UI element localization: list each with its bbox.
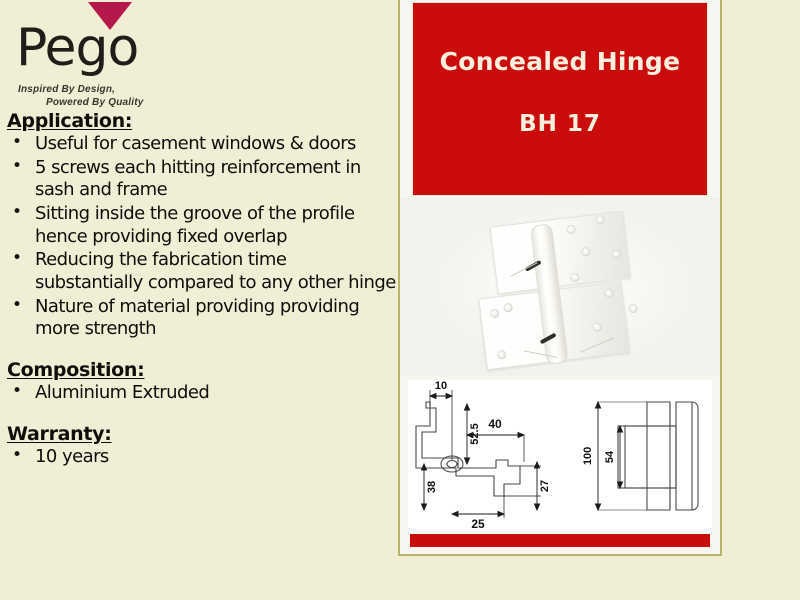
right-product-panel: Concealed Hinge BH 17 [398, 0, 722, 556]
feature-sections: Application: Useful for casement windows… [4, 110, 398, 469]
tagline-line-2: Powered By Quality [18, 97, 208, 110]
section-warranty: Warranty: 10 years [4, 423, 398, 469]
technical-drawing-svg: 10 52.5 40 38 27 25 100 54 [408, 380, 712, 532]
application-bullet-list: Useful for casement windows & doors 5 sc… [4, 133, 398, 341]
warranty-bullet-list: 10 years [4, 446, 398, 469]
product-title: Concealed Hinge [440, 47, 681, 76]
dim-label-40: 40 [488, 417, 502, 431]
list-item: Nature of material providing providing m… [8, 296, 398, 341]
list-item: Sitting inside the groove of the profile… [8, 203, 398, 248]
dim-label-52-5: 52.5 [469, 423, 481, 444]
dim-label-54: 54 [604, 450, 616, 463]
section-composition: Composition: Aluminium Extruded [4, 359, 398, 405]
section-application: Application: Useful for casement windows… [4, 110, 398, 341]
screw-hole [628, 303, 638, 313]
slide-canvas: Pego Inspired By Design, Powered By Qual… [0, 0, 800, 600]
section-heading-application: Application: [7, 110, 398, 132]
product-photo [398, 198, 720, 376]
section-heading-composition: Composition: [7, 359, 398, 381]
photo-backdrop [398, 198, 720, 376]
left-content-column: Pego Inspired By Design, Powered By Qual… [0, 0, 398, 600]
composition-bullet-list: Aluminium Extruded [4, 382, 398, 405]
list-item: Useful for casement windows & doors [8, 133, 398, 156]
list-item: 5 screws each hitting reinforcement in s… [8, 157, 398, 202]
hinge-illustration [468, 206, 665, 376]
dim-label-10: 10 [435, 380, 447, 392]
brand-logo: Pego Inspired By Design, Powered By Qual… [8, 4, 208, 109]
tagline-line-1: Inspired By Design, [18, 84, 115, 95]
panel-bottom-border [398, 554, 722, 556]
section-heading-warranty: Warranty: [7, 423, 398, 445]
technical-drawing: 10 52.5 40 38 27 25 100 54 [408, 380, 712, 532]
product-code: BH 17 [519, 111, 601, 137]
dim-label-27: 27 [539, 480, 551, 492]
dim-label-100: 100 [582, 447, 594, 465]
dim-label-25: 25 [471, 517, 485, 531]
brand-tagline: Inspired By Design, Powered By Quality [18, 84, 208, 109]
triangle-icon [88, 2, 132, 30]
list-item: Aluminium Extruded [8, 382, 398, 405]
product-title-card: Concealed Hinge BH 17 [412, 2, 708, 196]
list-item: 10 years [8, 446, 398, 469]
dim-label-38: 38 [426, 481, 438, 493]
accent-bottom-bar [410, 534, 710, 547]
brand-wordmark: Pego [16, 24, 208, 82]
list-item: Reducing the fabrication time substantia… [8, 249, 398, 294]
panel-left-border [398, 0, 400, 556]
